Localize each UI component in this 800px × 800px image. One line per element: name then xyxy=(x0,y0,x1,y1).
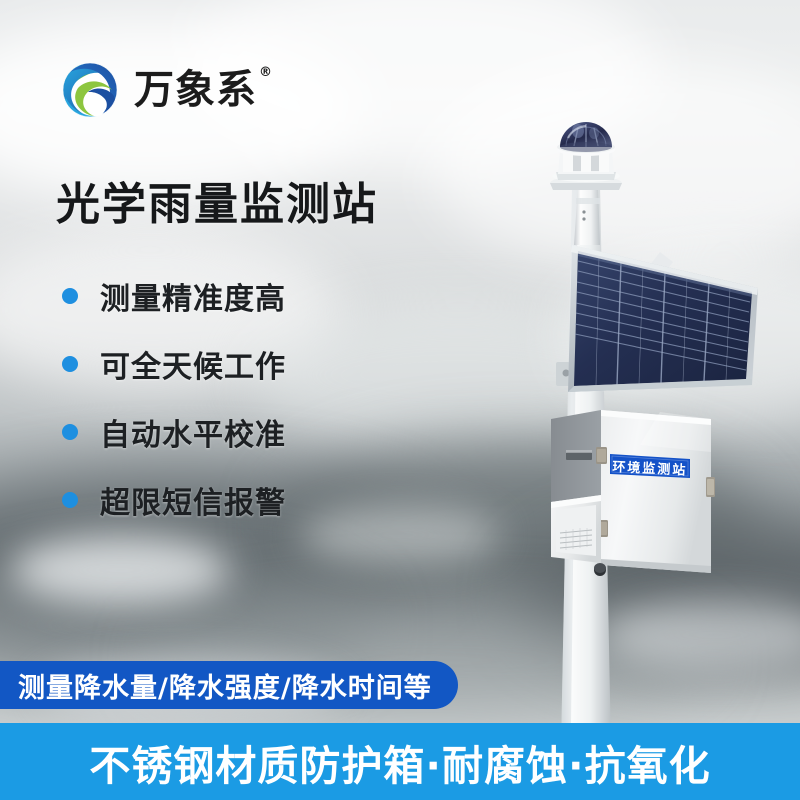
feature-label: 自动水平校准 xyxy=(100,410,286,454)
brand-name-text: 万象系 xyxy=(134,67,257,113)
page-title: 光学雨量监测站 xyxy=(56,168,378,232)
blue-dot-icon xyxy=(62,288,78,304)
feature-label: 可全天候工作 xyxy=(100,342,286,386)
blue-dot-icon xyxy=(62,492,78,508)
pill-banner: 测量降水量/降水强度/降水时间等 xyxy=(0,661,458,709)
cloud-wisp xyxy=(10,535,230,605)
registered-trademark-icon: ® xyxy=(259,66,273,79)
list-item: 自动水平校准 xyxy=(62,398,286,466)
brand-logo: 万象系 ® xyxy=(58,58,257,122)
blue-dot-icon xyxy=(62,424,78,440)
cloud-wisp xyxy=(300,505,500,565)
feature-list: 测量精准度高 可全天候工作 自动水平校准 超限短信报警 xyxy=(62,262,286,534)
bottom-bar-text: 不锈钢材质防护箱·耐腐蚀·抗氧化 xyxy=(89,732,710,792)
list-item: 可全天候工作 xyxy=(62,330,286,398)
list-item: 测量精准度高 xyxy=(62,262,286,330)
globe-sphere-icon xyxy=(58,58,122,122)
product-marketing-banner: 万象系 ® 光学雨量监测站 测量精准度高 可全天候工作 自动水平校准 超限短信报… xyxy=(0,0,800,800)
bottom-bar: 不锈钢材质防护箱·耐腐蚀·抗氧化 xyxy=(0,723,800,800)
feature-label: 超限短信报警 xyxy=(100,478,286,522)
list-item: 超限短信报警 xyxy=(62,466,286,534)
feature-label: 测量精准度高 xyxy=(100,274,286,318)
pill-banner-text: 测量降水量/降水强度/降水时间等 xyxy=(18,666,432,705)
brand-name: 万象系 ® xyxy=(134,70,257,110)
blue-dot-icon xyxy=(62,356,78,372)
enclosure-label-text: 环境监测站 xyxy=(612,455,689,479)
